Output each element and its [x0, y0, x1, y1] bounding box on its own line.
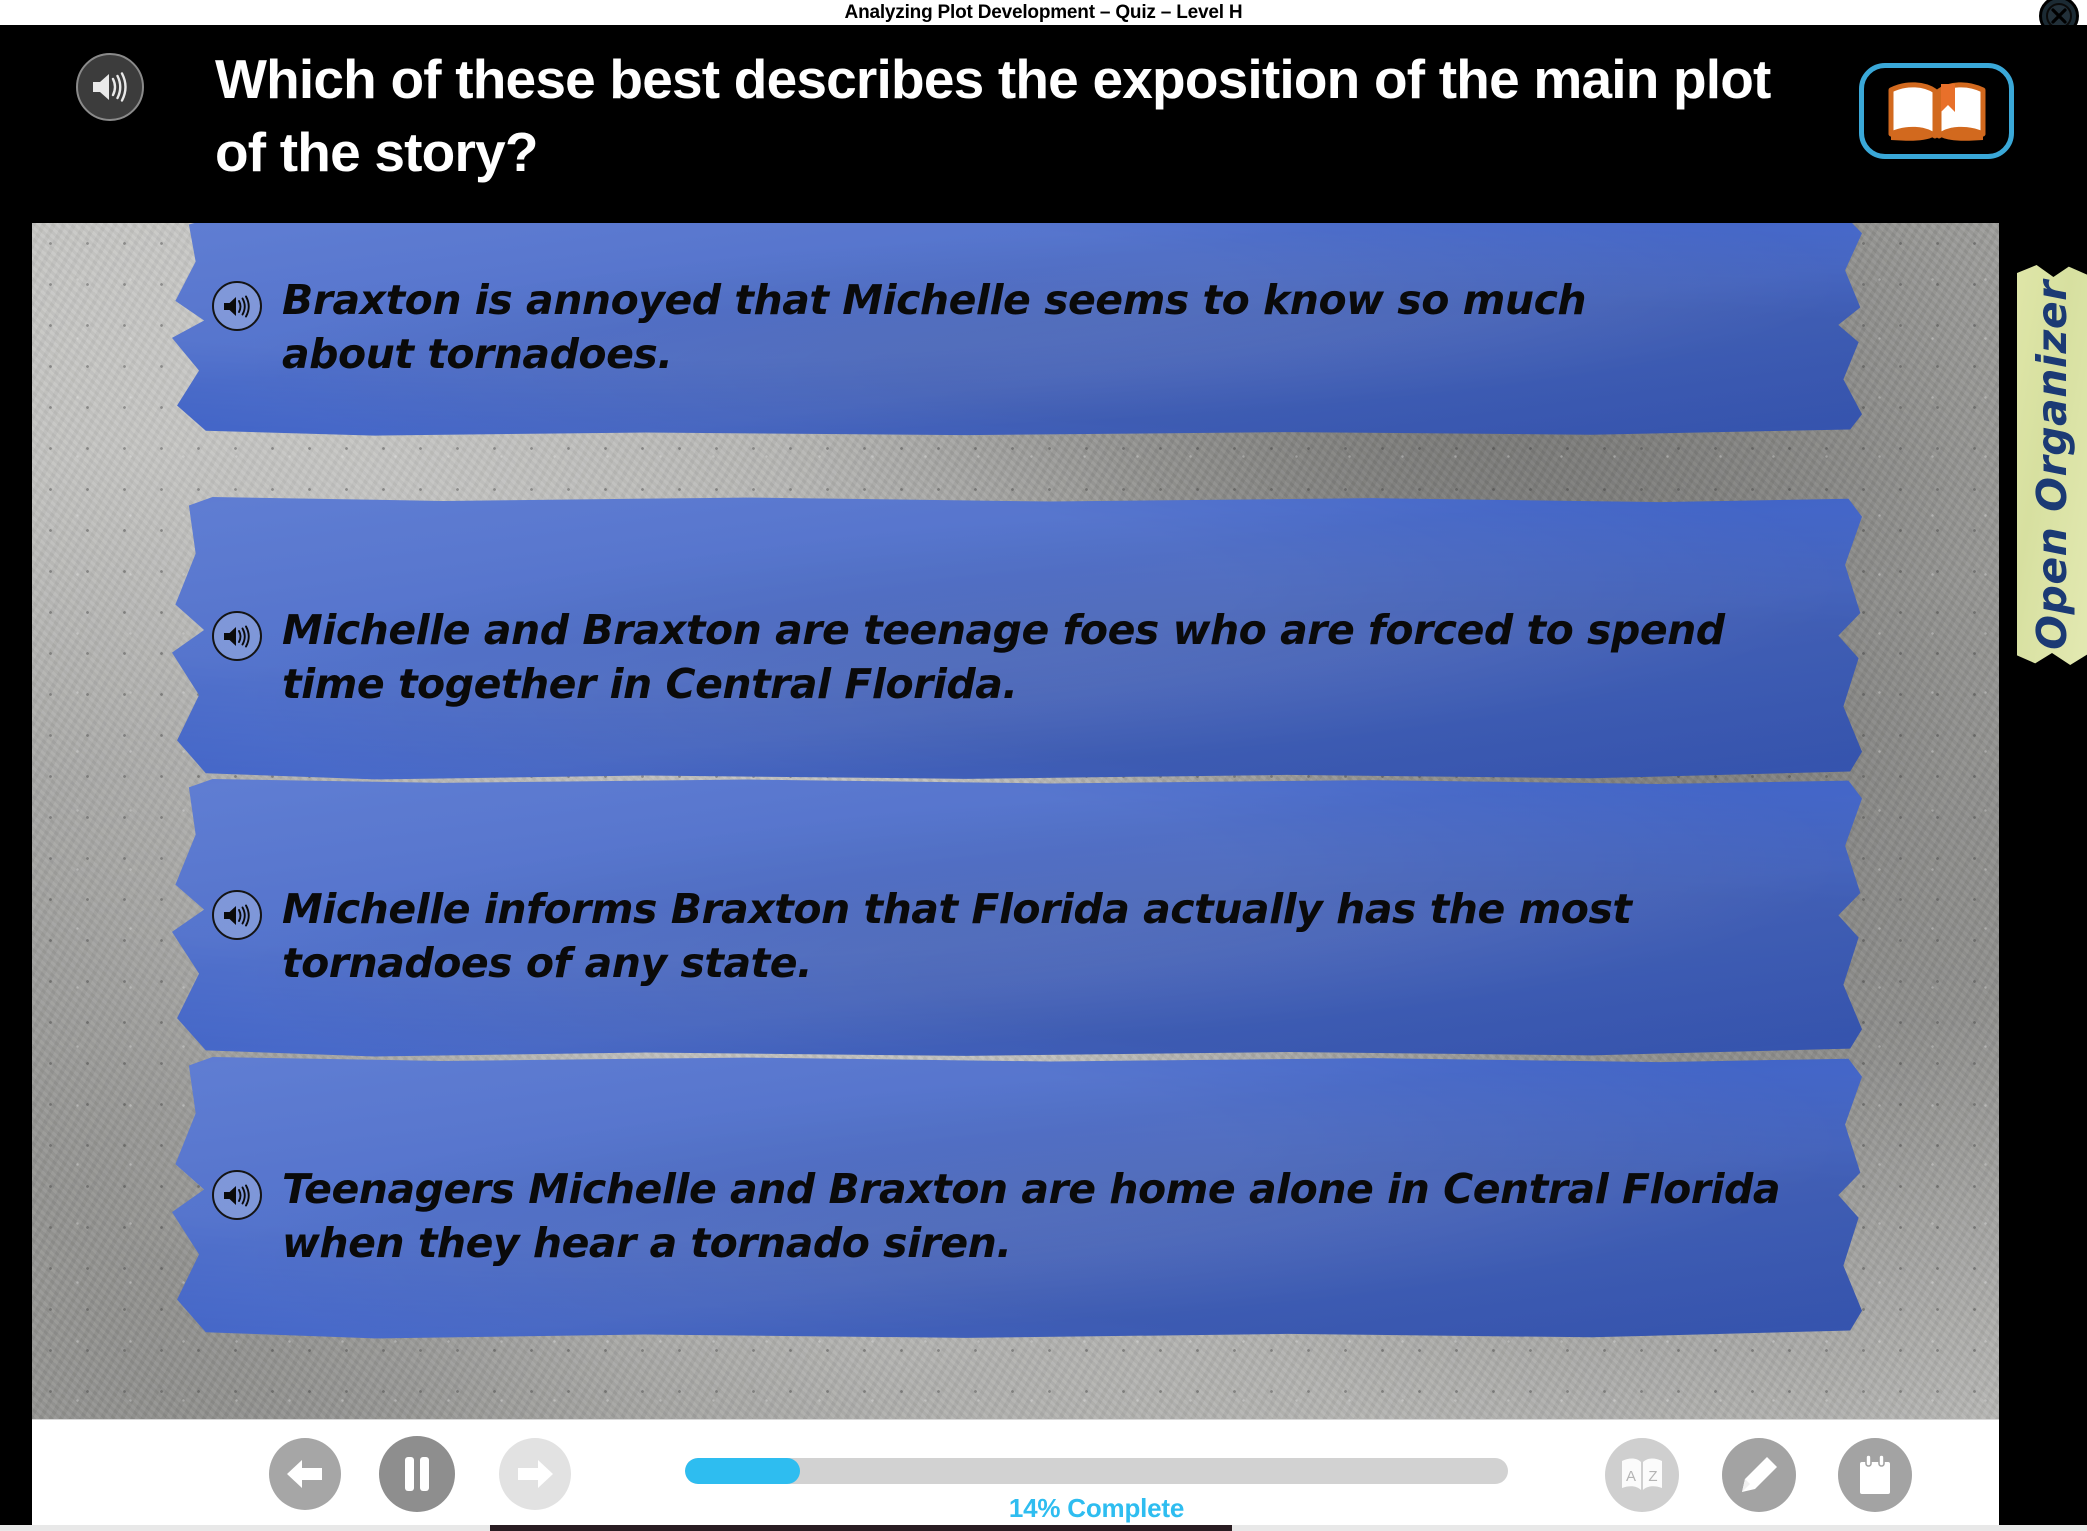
- speaker-icon[interactable]: [212, 890, 262, 940]
- progress-label: 14% Complete: [685, 1493, 1508, 1524]
- svg-text:A: A: [1626, 1468, 1636, 1485]
- window-bottom-strip: [0, 1525, 2087, 1531]
- answer-option-b[interactable]: Michelle and Braxton are teenage foes wh…: [172, 497, 1862, 780]
- option-label: Michelle informs Braxton that Florida ac…: [282, 882, 1842, 990]
- arrow-left-icon[interactable]: [269, 1438, 341, 1510]
- question-header: Which of these best describes the exposi…: [0, 25, 2087, 223]
- option-label: Teenagers Michelle and Braxton are home …: [282, 1162, 1827, 1270]
- bottom-toolbar: 14% Complete A Z: [32, 1419, 1999, 1525]
- pencil-icon[interactable]: [1722, 1438, 1796, 1512]
- progress-section: 14% Complete: [685, 1458, 1508, 1524]
- speaker-icon[interactable]: [212, 1170, 262, 1220]
- speaker-icon[interactable]: [212, 611, 262, 661]
- option-label: Braxton is annoyed that Michelle seems t…: [282, 273, 1702, 381]
- window-titlebar: Analyzing Plot Development – Quiz – Leve…: [0, 0, 2087, 25]
- open-organizer-tab[interactable]: Open Organizer: [2017, 265, 2087, 665]
- dictionary-az-icon[interactable]: A Z: [1605, 1438, 1679, 1512]
- progress-fill: [685, 1458, 800, 1484]
- open-organizer-label: Open Organizer: [2028, 280, 2076, 650]
- arrow-right-icon[interactable]: [499, 1438, 571, 1510]
- notepad-icon[interactable]: [1838, 1438, 1912, 1512]
- answer-option-d[interactable]: Teenagers Michelle and Braxton are home …: [172, 1057, 1862, 1339]
- page-title: Which of these best describes the exposi…: [215, 43, 1815, 189]
- speaker-icon[interactable]: [76, 53, 144, 121]
- window-title: Analyzing Plot Development – Quiz – Leve…: [845, 2, 1243, 24]
- pause-icon[interactable]: [379, 1436, 455, 1512]
- progress-track: [685, 1458, 1508, 1484]
- answer-option-c[interactable]: Michelle informs Braxton that Florida ac…: [172, 779, 1862, 1057]
- option-label: Michelle and Braxton are teenage foes wh…: [282, 603, 1802, 711]
- question-content-area: Braxton is annoyed that Michelle seems t…: [32, 223, 1999, 1419]
- speaker-icon[interactable]: [212, 281, 262, 331]
- svg-text:Z: Z: [1648, 1468, 1657, 1485]
- open-book-icon[interactable]: [1859, 63, 2014, 159]
- answer-options-list: Braxton is annoyed that Michelle seems t…: [32, 223, 1999, 1419]
- answer-option-a[interactable]: Braxton is annoyed that Michelle seems t…: [172, 223, 1862, 436]
- quiz-application: Analyzing Plot Development – Quiz – Leve…: [0, 0, 2087, 1531]
